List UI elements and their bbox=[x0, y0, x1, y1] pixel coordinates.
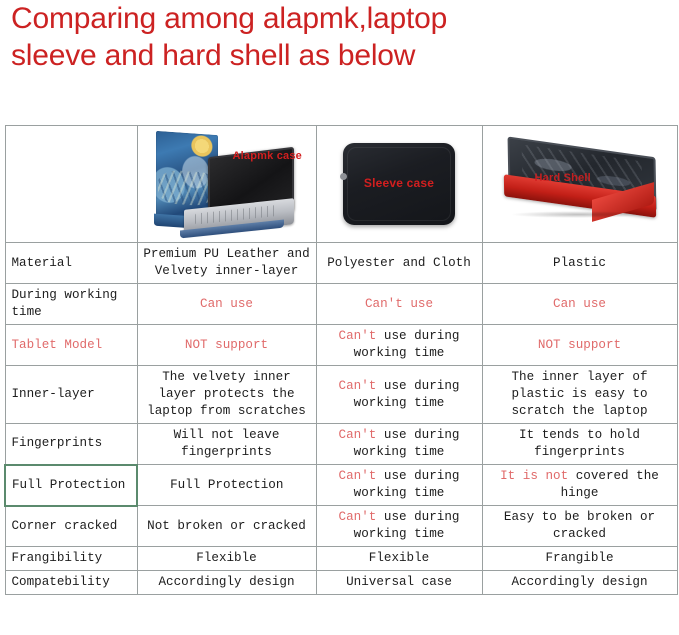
row-label: Frangibility bbox=[5, 547, 137, 571]
table-row: Inner-layerThe velvety inner layer prote… bbox=[5, 366, 677, 424]
table-row: CompatebilityAccordingly designUniversal… bbox=[5, 571, 677, 595]
row-label: Corner cracked bbox=[5, 506, 137, 547]
table-cell: Polyester and Cloth bbox=[316, 243, 482, 284]
table-cell: Will not leave fingerprints bbox=[137, 424, 316, 465]
cell-red-prefix: Can't bbox=[339, 329, 377, 343]
table-cell: Plastic bbox=[482, 243, 677, 284]
row-label: Fingerprints bbox=[5, 424, 137, 465]
table-cell: Can use bbox=[137, 284, 316, 325]
table-cell: Can use bbox=[482, 284, 677, 325]
table-cell: Not broken or cracked bbox=[137, 506, 316, 547]
table-cell: Can't use during working time bbox=[316, 506, 482, 547]
table-cell: Can't use bbox=[316, 284, 482, 325]
alapmk-case-caption: Alapmk case bbox=[233, 148, 302, 165]
table-row: During working timeCan useCan't useCan u… bbox=[5, 284, 677, 325]
alapmk-laptop-illustration bbox=[150, 130, 300, 238]
comparison-table: Alapmk case Sleeve case bbox=[4, 125, 678, 595]
table-row: Full ProtectionFull ProtectionCan't use … bbox=[5, 465, 677, 506]
header-empty-cell bbox=[5, 126, 137, 243]
table-cell: Can't use during working time bbox=[316, 465, 482, 506]
table-row: Corner crackedNot broken or crackedCan't… bbox=[5, 506, 677, 547]
row-label: Inner-layer bbox=[5, 366, 137, 424]
row-label: Material bbox=[5, 243, 137, 284]
table-cell: Flexible bbox=[137, 547, 316, 571]
row-label: Tablet Model bbox=[5, 325, 137, 366]
table-cell: Frangible bbox=[482, 547, 677, 571]
header-cell-sleeve: Sleeve case bbox=[316, 126, 482, 243]
page-title: Comparing among alapmk,laptop sleeve and… bbox=[11, 0, 631, 74]
table-cell: Easy to be broken or cracked bbox=[482, 506, 677, 547]
table-row: MaterialPremium PU Leather and Velvety i… bbox=[5, 243, 677, 284]
table-cell: Universal case bbox=[316, 571, 482, 595]
hard-shell-caption: Hard Shell bbox=[535, 170, 591, 187]
hard-shell-case-image: Hard Shell bbox=[483, 128, 677, 240]
sleeve-case-image: Sleeve case bbox=[317, 128, 482, 240]
sleeve-zipper-pull bbox=[340, 173, 347, 180]
table-cell: Flexible bbox=[316, 547, 482, 571]
table-cell: Can't use during working time bbox=[316, 325, 482, 366]
hard-shell-shadow bbox=[510, 211, 648, 218]
table-cell: It is not covered the hinge bbox=[482, 465, 677, 506]
comparison-page: Comparing among alapmk,laptop sleeve and… bbox=[0, 0, 679, 635]
cell-red-prefix: Can't bbox=[339, 428, 377, 442]
sleeve-case-caption: Sleeve case bbox=[364, 175, 434, 192]
table-cell: Accordingly design bbox=[137, 571, 316, 595]
table-cell: The velvety inner layer protects the lap… bbox=[137, 366, 316, 424]
table-cell: Accordingly design bbox=[482, 571, 677, 595]
table-cell: Can't use during working time bbox=[316, 366, 482, 424]
cell-red-prefix: Can't bbox=[339, 379, 377, 393]
row-label: During working time bbox=[5, 284, 137, 325]
table-body: Alapmk case Sleeve case bbox=[5, 126, 677, 595]
table-cell: NOT support bbox=[137, 325, 316, 366]
cell-red-prefix: It is not bbox=[500, 469, 568, 483]
table-cell: It tends to hold fingerprints bbox=[482, 424, 677, 465]
cell-red-prefix: Can't bbox=[339, 510, 377, 524]
table-cell: NOT support bbox=[482, 325, 677, 366]
table-cell: The inner layer of plastic is easy to sc… bbox=[482, 366, 677, 424]
table-cell: Can't use during working time bbox=[316, 424, 482, 465]
alapmk-case-image: Alapmk case bbox=[138, 128, 316, 240]
table-cell: Premium PU Leather and Velvety inner-lay… bbox=[137, 243, 316, 284]
table-row: Tablet ModelNOT supportCan't use during … bbox=[5, 325, 677, 366]
header-cell-alapmk: Alapmk case bbox=[137, 126, 316, 243]
table-cell: Full Protection bbox=[137, 465, 316, 506]
header-cell-hardshell: Hard Shell bbox=[482, 126, 677, 243]
table-row: FingerprintsWill not leave fingerprintsC… bbox=[5, 424, 677, 465]
table-row: FrangibilityFlexibleFlexibleFrangible bbox=[5, 547, 677, 571]
cell-red-prefix: Can't bbox=[339, 469, 377, 483]
cell-text: covered the hinge bbox=[561, 469, 659, 500]
table-header-row: Alapmk case Sleeve case bbox=[5, 126, 677, 243]
row-label: Compatebility bbox=[5, 571, 137, 595]
row-label: Full Protection bbox=[5, 465, 137, 506]
